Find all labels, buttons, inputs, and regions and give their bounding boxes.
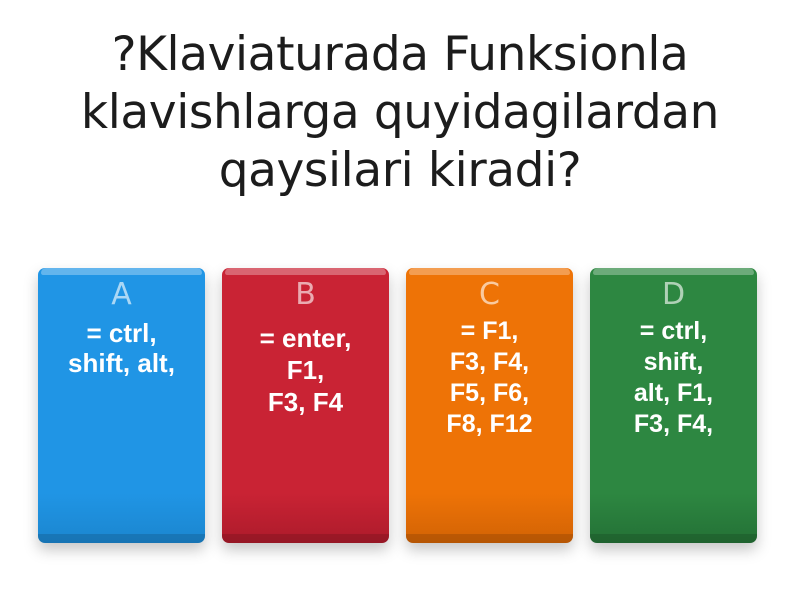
question-area: ?Klaviaturada Funksionla klavishlarga qu… <box>0 26 800 200</box>
question-text: ?Klaviaturada Funksionla klavishlarga qu… <box>14 26 786 200</box>
answer-card-b[interactable]: B = enter, F1, F3, F4 <box>222 268 389 543</box>
answer-text-d: = ctrl, shift, alt, F1, F3, F4, <box>592 316 755 440</box>
answer-text-b: = enter, F1, F3, F4 <box>224 322 387 418</box>
answer-options-row: A = ctrl, shift, alt, B = enter, F1, F3,… <box>38 268 762 543</box>
answer-text-a: = ctrl, shift, alt, <box>40 318 203 378</box>
answer-card-d[interactable]: D = ctrl, shift, alt, F1, F3, F4, <box>590 268 757 543</box>
answer-text-c: = F1, F3, F4, F5, F6, F8, F12 <box>408 316 571 440</box>
answer-card-c[interactable]: C = F1, F3, F4, F5, F6, F8, F12 <box>406 268 573 543</box>
answer-letter-d: D <box>592 274 755 316</box>
answer-card-b-content: B = enter, F1, F3, F4 <box>222 268 389 543</box>
answer-card-a-content: A = ctrl, shift, alt, <box>38 268 205 543</box>
answer-card-a[interactable]: A = ctrl, shift, alt, <box>38 268 205 543</box>
answer-letter-b: B <box>224 274 387 316</box>
answer-letter-a: A <box>40 274 203 316</box>
quiz-slide: ?Klaviaturada Funksionla klavishlarga qu… <box>0 0 800 600</box>
answer-card-d-content: D = ctrl, shift, alt, F1, F3, F4, <box>590 268 757 543</box>
answer-card-c-content: C = F1, F3, F4, F5, F6, F8, F12 <box>406 268 573 543</box>
answer-letter-c: C <box>408 274 571 316</box>
